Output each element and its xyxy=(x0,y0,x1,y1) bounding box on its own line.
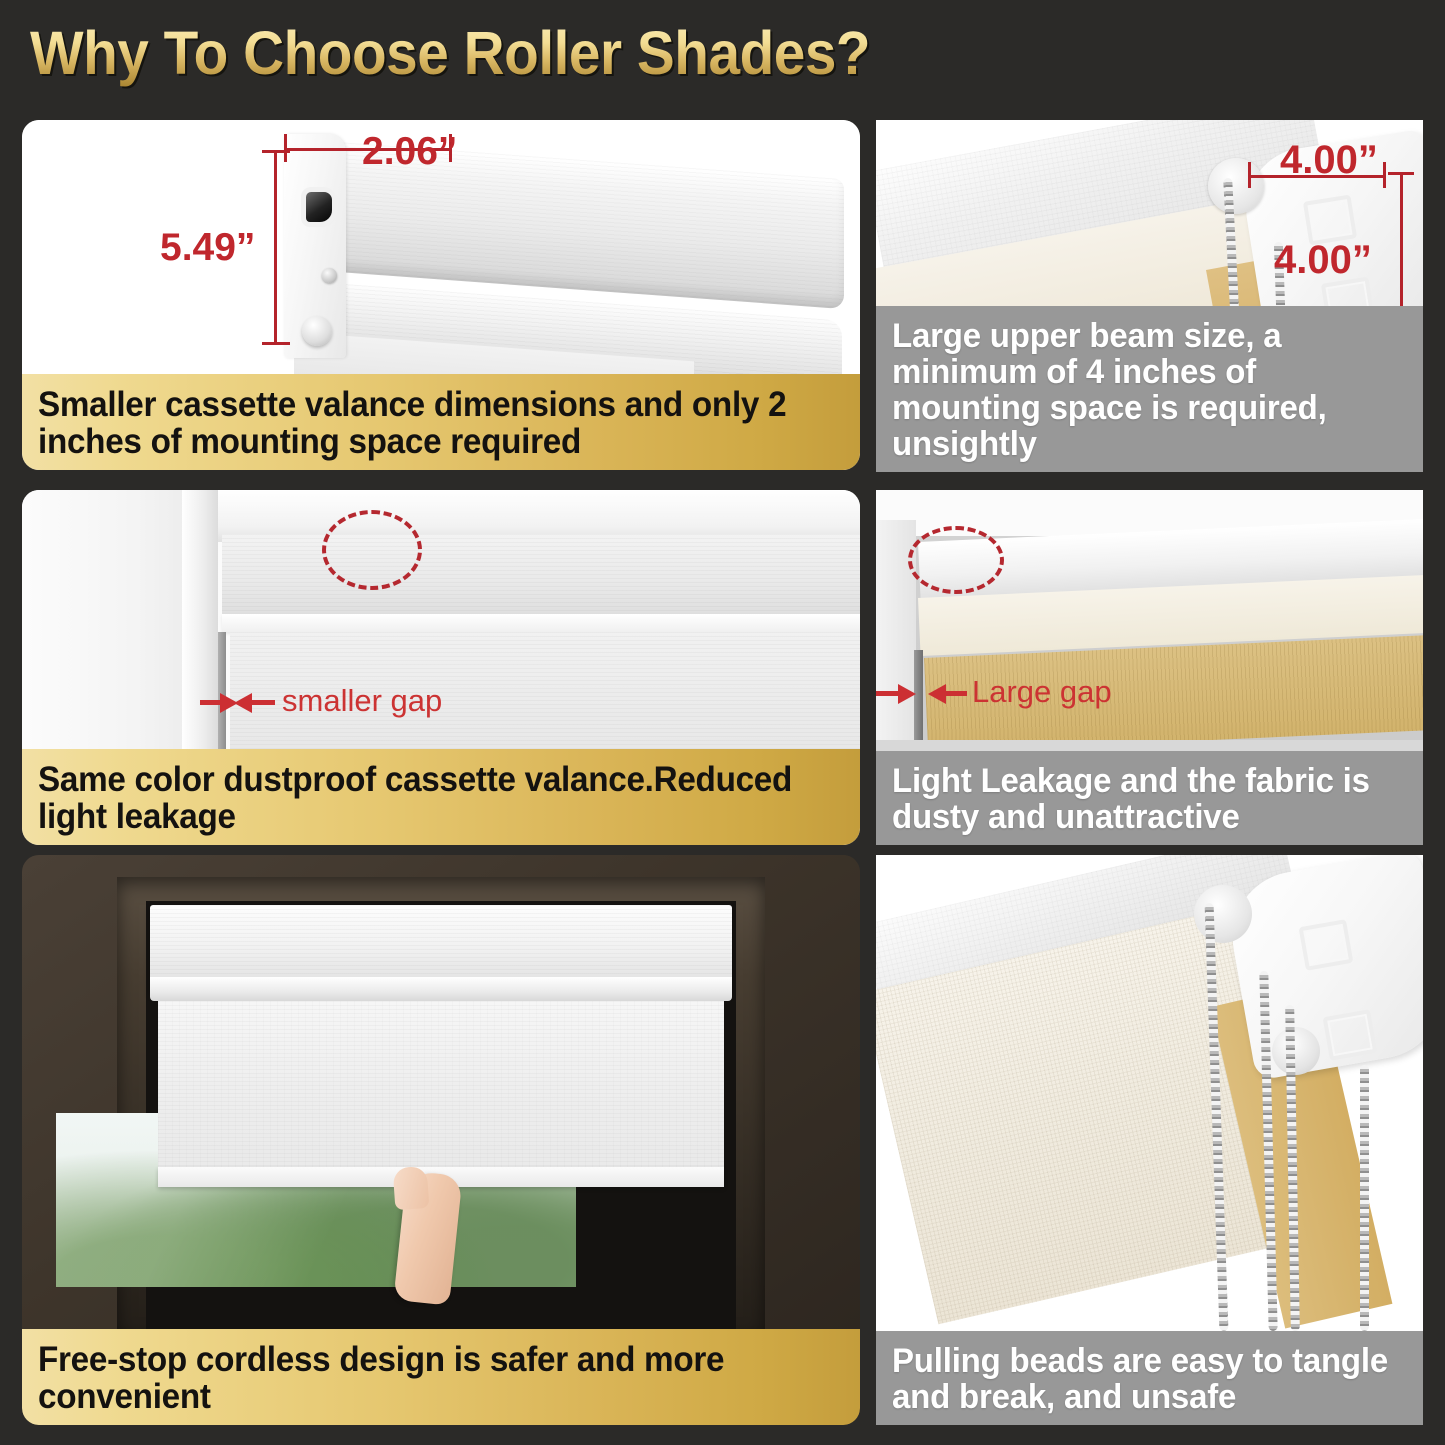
panel-4-caption-text: Light Leakage and the fabric is dusty an… xyxy=(892,763,1392,835)
callout-circle-icon xyxy=(908,526,1004,594)
roller-endcap-lower xyxy=(1272,1027,1320,1075)
panel-6-caption: Pulling beads are easy to tangle and bre… xyxy=(876,1331,1423,1425)
gap-arrow-stem-left xyxy=(200,700,222,705)
panel-cordless-design: Free-stop cordless design is safer and m… xyxy=(22,855,860,1425)
beam-width-tick-right xyxy=(1383,162,1386,188)
valance-screw xyxy=(322,268,337,283)
bracket-emblem-lower xyxy=(1323,1009,1378,1061)
bracket-emblem-upper xyxy=(1299,919,1354,971)
beam-width-tick-left xyxy=(1248,162,1251,188)
panel-6-image xyxy=(876,855,1423,1331)
panel-smaller-gap: smaller gap Same color dustproof cassett… xyxy=(22,490,860,845)
window-frame-edge xyxy=(182,490,218,758)
panel-3-caption-text: Same color dustproof cassette valance.Re… xyxy=(38,761,804,835)
large-gap-label: Large gap xyxy=(972,674,1112,710)
panel-1-image: 2.06” 5.49” xyxy=(22,120,860,378)
roller-shade-fabric xyxy=(158,1001,724,1173)
roller-endcap xyxy=(1194,885,1252,943)
panel-5-caption: Free-stop cordless design is safer and m… xyxy=(22,1329,860,1425)
width-dimension-label: 2.06” xyxy=(362,130,457,174)
panel-6-caption-text: Pulling beads are easy to tangle and bre… xyxy=(892,1343,1392,1415)
panel-large-gap: Large gap Light Leakage and the fabric i… xyxy=(876,490,1423,845)
gap-arrow-left-icon xyxy=(928,684,946,704)
panel-large-beam: 4.00” 4.00” Large upper beam size, a min… xyxy=(876,120,1423,472)
panel-2-caption-text: Large upper beam size, a minimum of 4 in… xyxy=(892,318,1392,462)
height-dim-line xyxy=(274,150,277,345)
page-title: Why To Choose Roller Shades? xyxy=(30,18,870,88)
panel-4-image: Large gap xyxy=(876,490,1423,740)
shade-upper-fabric xyxy=(222,534,860,616)
panel-3-image: smaller gap xyxy=(22,490,860,758)
width-dim-tick-left xyxy=(284,134,287,162)
gap-arrow-left-icon xyxy=(234,693,252,713)
beam-height-dimension-label: 4.00” xyxy=(1274,238,1372,283)
gap-arrow-right-icon xyxy=(898,684,916,704)
beam-roller-endcap xyxy=(1208,158,1264,214)
beam-height-tick-top xyxy=(1388,172,1414,175)
panel-1-caption: Smaller cassette valance dimensions and … xyxy=(22,374,860,470)
panel-1-caption-text: Smaller cassette valance dimensions and … xyxy=(38,386,804,460)
callout-circle-icon xyxy=(322,510,422,590)
valance-knob xyxy=(302,316,332,346)
gap-arrow-stem-right xyxy=(251,700,275,705)
gap-arrow-stem-right xyxy=(945,691,967,696)
hand-fingers xyxy=(393,1166,430,1210)
valance-slot xyxy=(306,192,332,222)
panel-smaller-cassette: 2.06” 5.49” Smaller cassette valance dim… xyxy=(22,120,860,470)
height-dim-tick-top xyxy=(262,150,290,153)
height-dim-tick-bottom xyxy=(262,342,290,345)
panel-2-caption: Large upper beam size, a minimum of 4 in… xyxy=(876,306,1423,472)
smaller-gap-label: smaller gap xyxy=(282,683,442,719)
gap-arrow-stem-left xyxy=(876,691,900,696)
cassette-lip xyxy=(150,977,732,1001)
panel-pull-beads: Pulling beads are easy to tangle and bre… xyxy=(876,855,1423,1425)
panel-3-caption: Same color dustproof cassette valance.Re… xyxy=(22,749,860,845)
beam-width-dimension-label: 4.00” xyxy=(1280,138,1378,183)
panel-4-caption: Light Leakage and the fabric is dusty an… xyxy=(876,751,1423,845)
height-dimension-label: 5.49” xyxy=(160,226,255,270)
panel-5-image xyxy=(22,855,860,1333)
bead-chain-right xyxy=(1360,1065,1369,1331)
shade-mid-rail xyxy=(222,614,860,632)
panel-5-caption-text: Free-stop cordless design is safer and m… xyxy=(38,1341,804,1415)
